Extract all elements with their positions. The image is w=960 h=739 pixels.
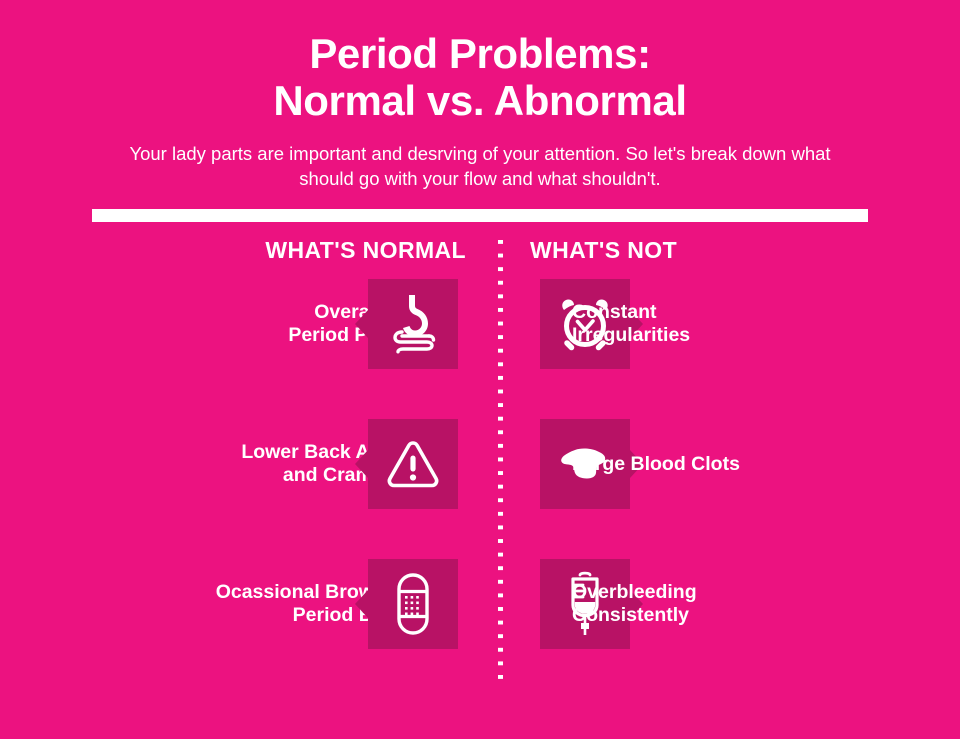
- label-line-1: Constant: [572, 301, 690, 324]
- label-line-1: Large Blood Clots: [572, 453, 740, 476]
- icon-card-left: [368, 279, 458, 369]
- stomach-intestine-icon: [389, 293, 437, 355]
- comparison-row: Lower Back Aches and Cramping: [0, 419, 960, 509]
- comparison-rows: Overactive Period Poops: [0, 279, 960, 649]
- column-heading-normal: WHAT'S NORMAL: [265, 237, 466, 264]
- label-line-2: Irregularities: [572, 324, 690, 347]
- bandage-icon: [396, 572, 430, 636]
- row-right-side: Constant Irregularities: [540, 279, 690, 369]
- column-headings: WHAT'S NORMAL WHAT'S NOT: [0, 237, 960, 271]
- row-right-side: Overbleeding Consistently: [540, 559, 697, 649]
- card-notch: [355, 450, 368, 478]
- row-right-label: Overbleeding Consistently: [572, 581, 697, 628]
- infographic-header: Period Problems: Normal vs. Abnormal You…: [0, 0, 960, 222]
- warning-triangle-icon: [386, 439, 440, 489]
- label-line-2: Consistently: [572, 604, 697, 627]
- row-right-label: Constant Irregularities: [572, 301, 690, 348]
- row-right-label: Large Blood Clots: [572, 453, 740, 476]
- header-divider-bar: [92, 209, 868, 222]
- page-subtitle: Your lady parts are important and desrvi…: [110, 142, 850, 191]
- page-title: Period Problems: Normal vs. Abnormal: [0, 30, 960, 124]
- icon-card-left: [368, 419, 458, 509]
- title-line-1: Period Problems:: [0, 30, 960, 77]
- card-notch: [355, 590, 368, 618]
- column-heading-not-normal: WHAT'S NOT: [530, 237, 677, 264]
- comparison-row: Overactive Period Poops: [0, 279, 960, 369]
- row-right-side: Large Blood Clots: [540, 419, 740, 509]
- title-line-2: Normal vs. Abnormal: [0, 77, 960, 124]
- label-line-1: Overbleeding: [572, 581, 697, 604]
- subtitle-line-1: Your lady parts are important and desrvi…: [129, 143, 737, 164]
- card-notch: [355, 310, 368, 338]
- icon-card-left: [368, 559, 458, 649]
- comparison-row: Ocassional Brownish Period Blood: [0, 559, 960, 649]
